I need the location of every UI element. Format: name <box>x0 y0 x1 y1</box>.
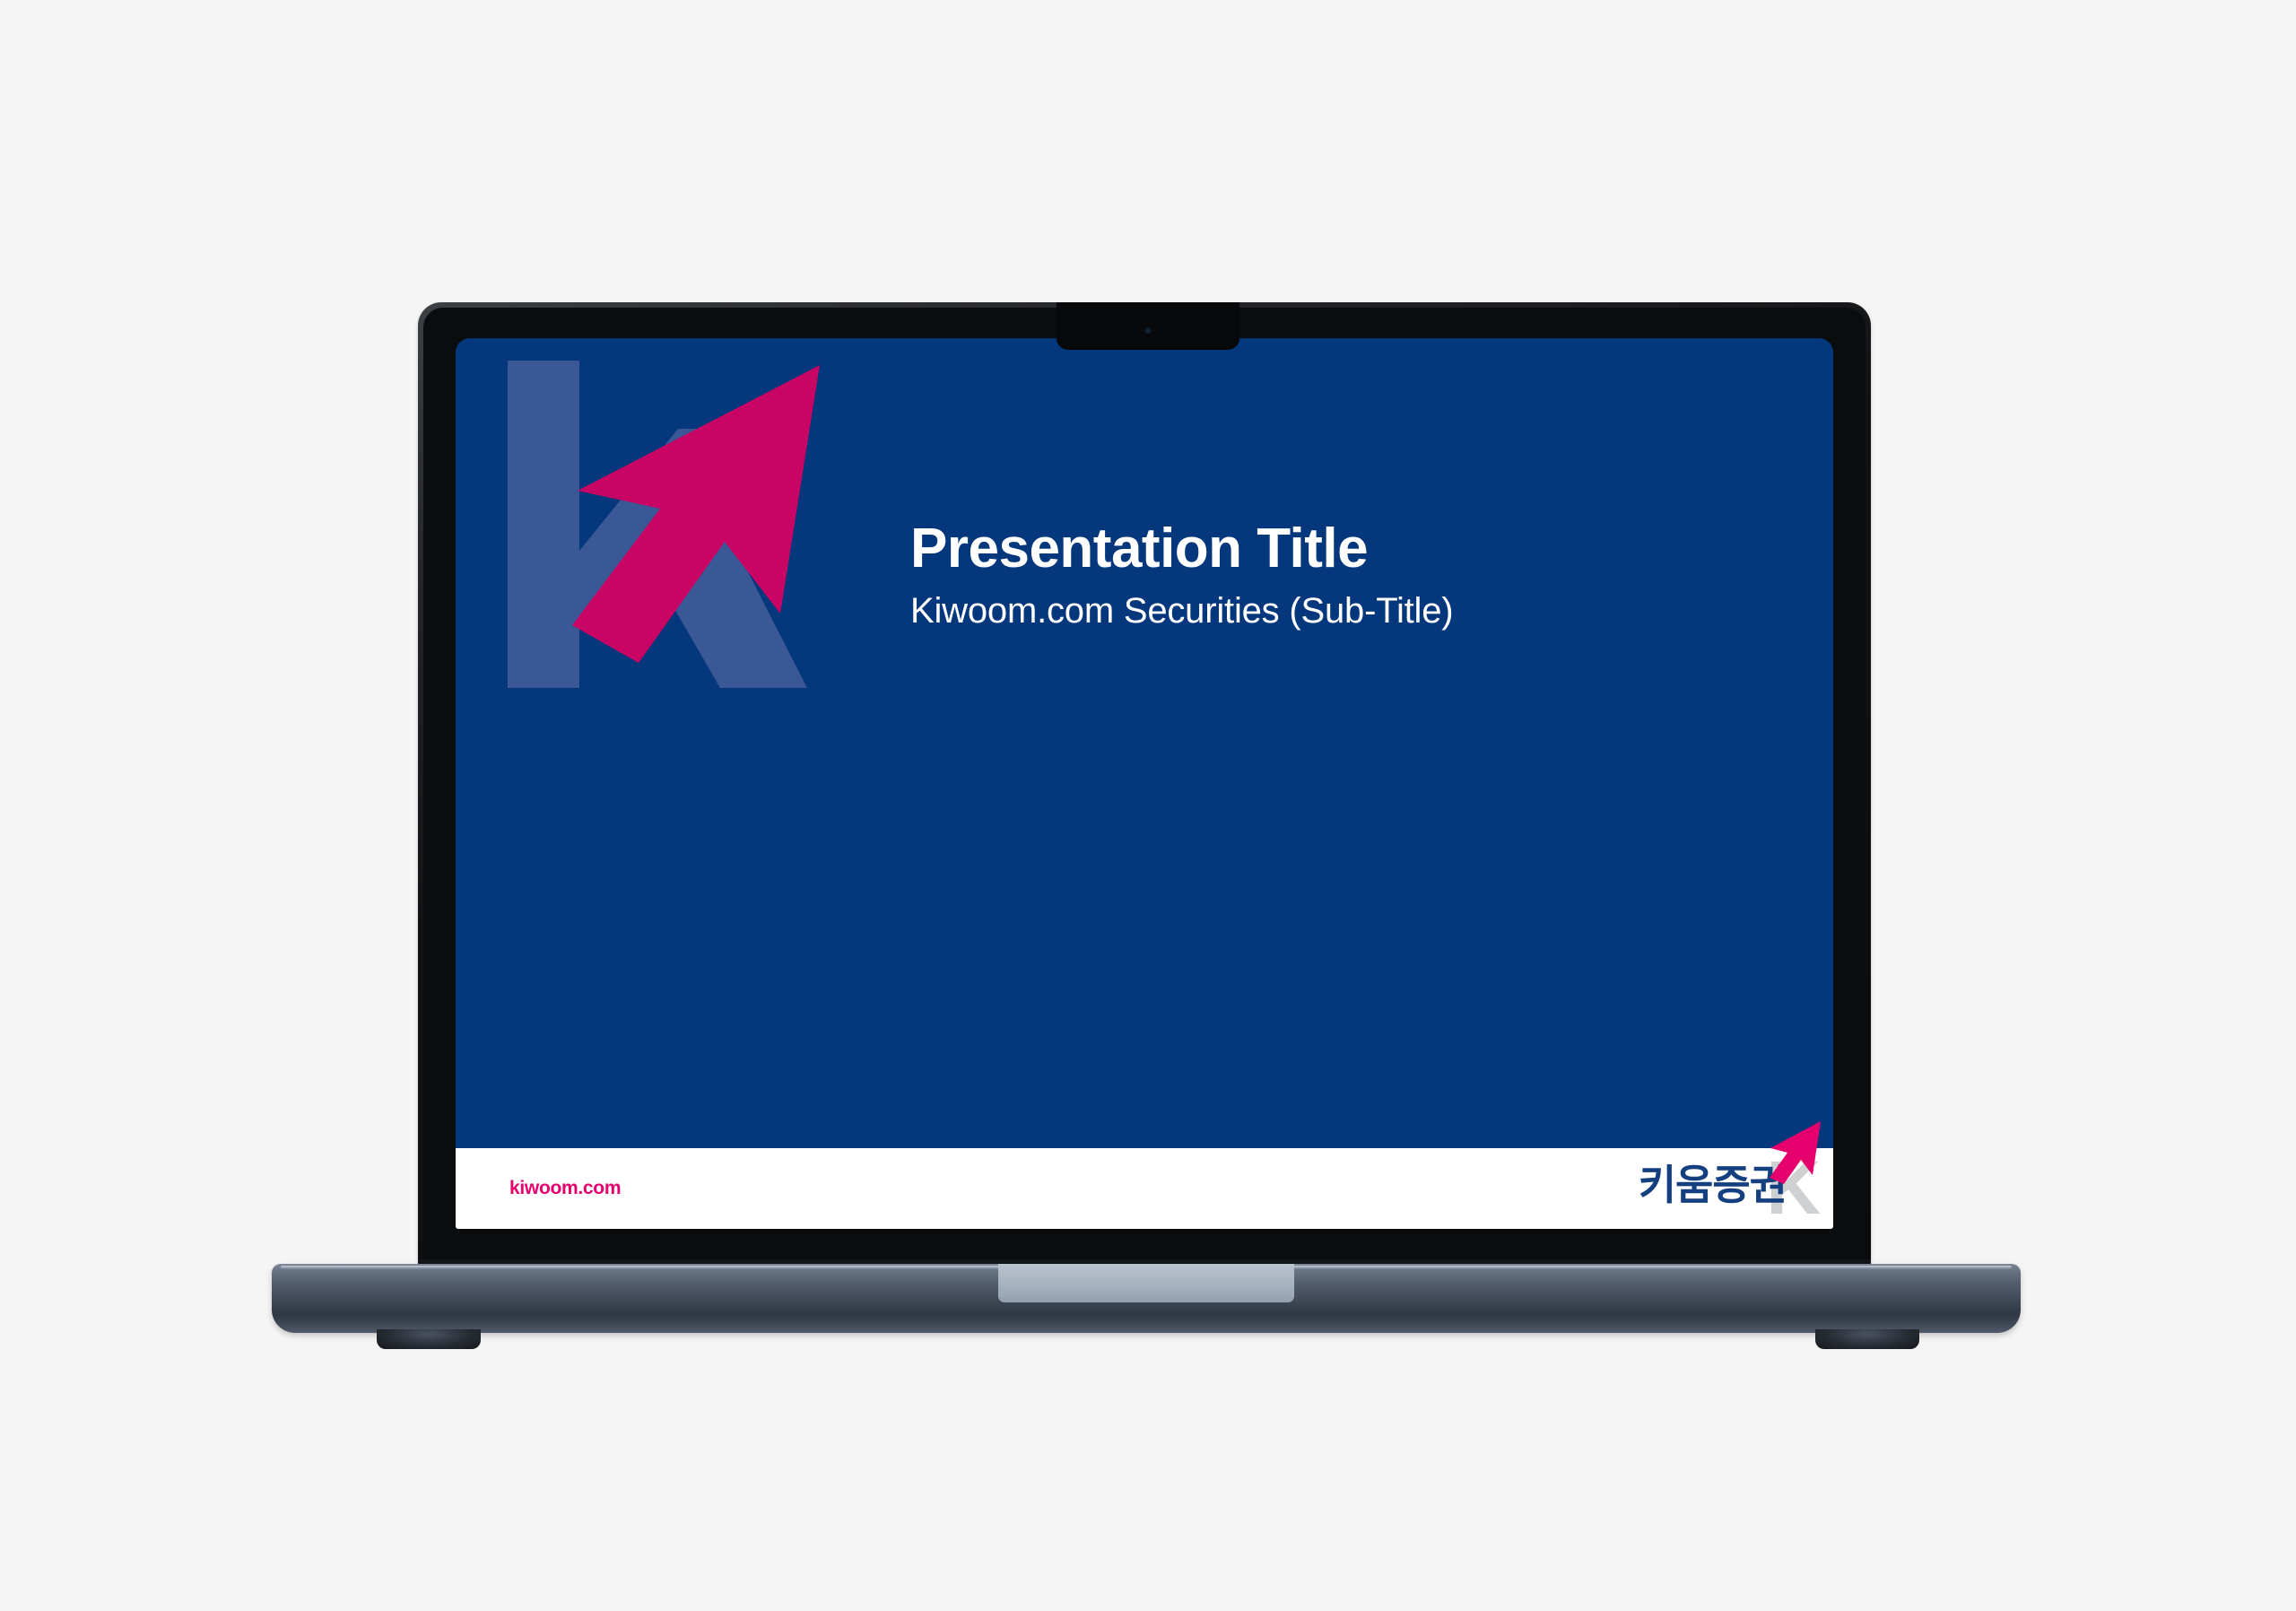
laptop-foot-left <box>377 1329 481 1349</box>
presentation-slide: Presentation Title Kiwoom.com Securities… <box>456 338 1833 1229</box>
logo-arrow-icon <box>1769 1119 1828 1184</box>
page-title: Presentation Title <box>910 521 1771 577</box>
screen-notch <box>1057 302 1239 350</box>
kiwoom-logo: K 키움증권 <box>1591 1148 1833 1229</box>
laptop-screen: Presentation Title Kiwoom.com Securities… <box>456 338 1833 1229</box>
laptop-device: Presentation Title Kiwoom.com Securities… <box>0 0 2296 1611</box>
slide-title-block: Presentation Title Kiwoom.com Securities… <box>910 521 1771 631</box>
laptop-base <box>272 1264 2021 1333</box>
slide-footer: kiwoom.com K 키움증권 <box>456 1148 1833 1229</box>
watermark-k-letter <box>502 361 807 688</box>
base-front-notch <box>998 1264 1294 1302</box>
footer-url-text: kiwoom.com <box>509 1178 621 1199</box>
brand-arrow-icon <box>572 358 859 663</box>
laptop-foot-right <box>1815 1329 1919 1349</box>
page-subtitle: Kiwoom.com Securities (Sub-Title) <box>910 591 1771 631</box>
logo-korean-text: 키움증권 <box>1639 1164 1787 1206</box>
camera-icon <box>1145 327 1152 334</box>
